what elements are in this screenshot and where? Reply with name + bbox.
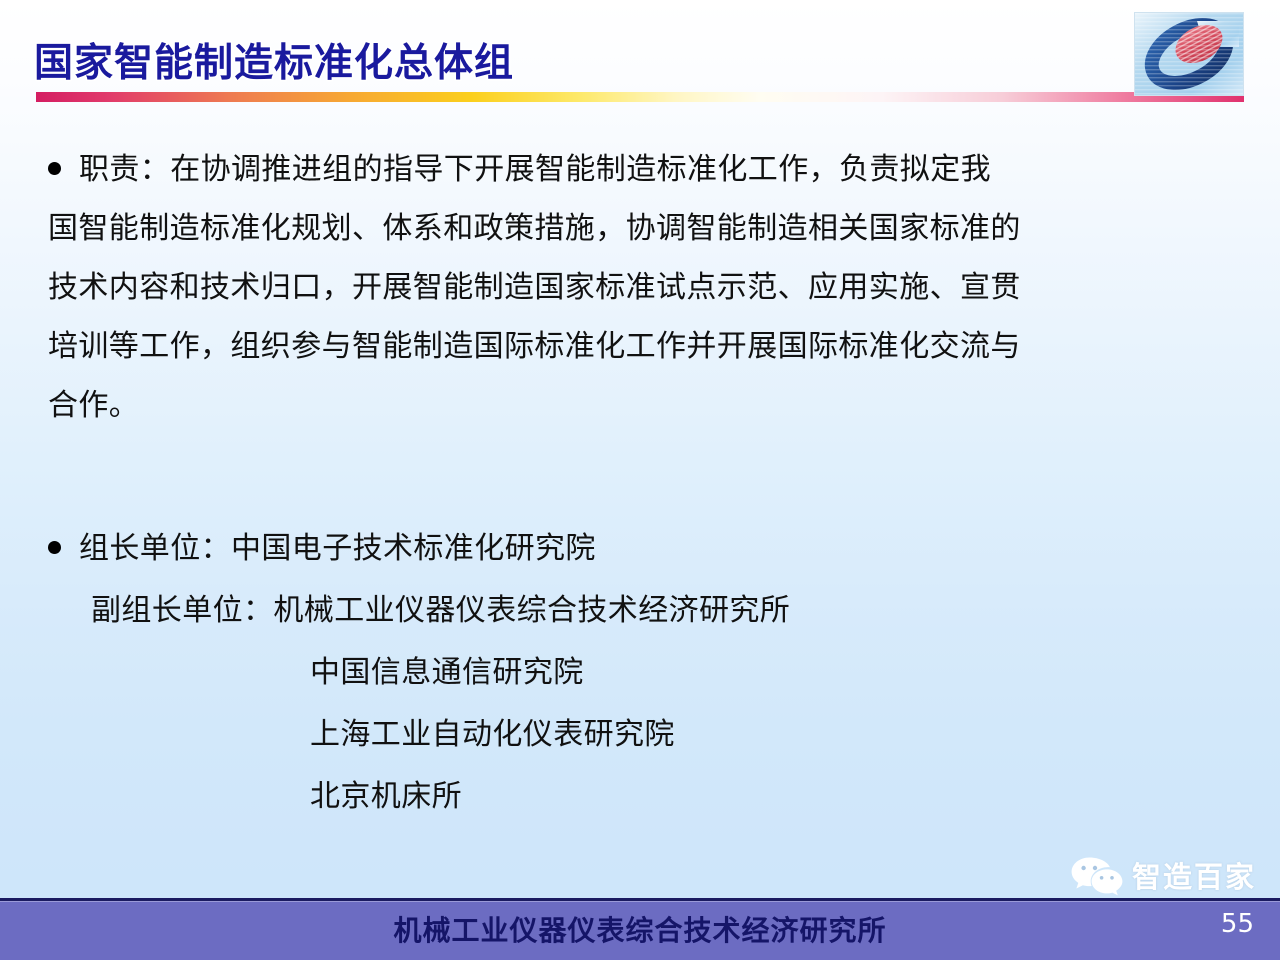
slide-header: 国家智能制造标准化总体组 xyxy=(0,0,1280,110)
paragraph-line: 职责：在协调推进组的指导下开展智能制造标准化工作，负责拟定我 xyxy=(48,140,1238,199)
paragraph-line-text: 国智能制造标准化规划、体系和政策措施，协调智能制造相关国家标准的 xyxy=(48,211,1021,246)
deputy-unit-extra: 中国信息通信研究院 xyxy=(48,642,1238,704)
paragraph-line-text: 培训等工作，组织参与智能制造国际标准化工作并开展国际标准化交流与 xyxy=(48,329,1021,364)
organization-logo xyxy=(1134,12,1244,96)
paragraph-line-text: 技术内容和技术归口，开展智能制造国家标准试点示范、应用实施、宣贯 xyxy=(48,270,1021,305)
paragraph-line: 技术内容和技术归口，开展智能制造国家标准试点示范、应用实施、宣贯 xyxy=(48,258,1238,317)
deputy-unit-extra: 北京机床所 xyxy=(48,766,1238,828)
page-title: 国家智能制造标准化总体组 xyxy=(34,40,514,88)
paragraph-line: 培训等工作，组织参与智能制造国际标准化工作并开展国际标准化交流与 xyxy=(48,317,1238,376)
bullet-icon xyxy=(48,541,61,554)
leader-unit-text: 组长单位：中国电子技术标准化研究院 xyxy=(79,531,596,566)
deputy-unit-extra-text: 北京机床所 xyxy=(310,779,462,814)
deputy-unit-extra-text: 中国信息通信研究院 xyxy=(310,655,584,690)
slide-root: 国家智能制造标准化总体组 xyxy=(0,0,1280,960)
paragraph-line: 国智能制造标准化规划、体系和政策措施，协调智能制造相关国家标准的 xyxy=(48,199,1238,258)
slide-footer: 机械工业仪器仪表综合技术经济研究所 55 xyxy=(0,901,1280,960)
bullet-icon xyxy=(48,162,61,175)
paragraph-line-text: 合作。 xyxy=(48,388,139,423)
watermark-label: 智造百家 xyxy=(1132,861,1256,893)
wechat-icon xyxy=(1069,856,1123,898)
watermark: 智造百家 xyxy=(1069,856,1256,898)
deputy-unit-text: 副组长单位：机械工业仪器仪表综合技术经济研究所 xyxy=(91,593,790,628)
footer-organization-name: 机械工业仪器仪表综合技术经济研究所 xyxy=(0,902,1280,960)
paragraph-line: 合作。 xyxy=(48,376,1238,435)
deputy-unit-line: 副组长单位：机械工业仪器仪表综合技术经济研究所 xyxy=(48,580,1238,642)
units-section: 组长单位：中国电子技术标准化研究院 副组长单位：机械工业仪器仪表综合技术经济研究… xyxy=(48,518,1238,828)
page-number: 55 xyxy=(1221,906,1254,942)
responsibility-paragraph: 职责：在协调推进组的指导下开展智能制造标准化工作，负责拟定我 国智能制造标准化规… xyxy=(48,140,1238,435)
leader-unit-line: 组长单位：中国电子技术标准化研究院 xyxy=(48,518,1238,580)
deputy-unit-extra-text: 上海工业自动化仪表研究院 xyxy=(310,717,675,752)
slide-body: 职责：在协调推进组的指导下开展智能制造标准化工作，负责拟定我 国智能制造标准化规… xyxy=(0,118,1280,858)
paragraph-line-text: 职责：在协调推进组的指导下开展智能制造标准化工作，负责拟定我 xyxy=(79,152,991,187)
deputy-unit-extra: 上海工业自动化仪表研究院 xyxy=(48,704,1238,766)
title-divider-gradient xyxy=(36,92,1244,102)
